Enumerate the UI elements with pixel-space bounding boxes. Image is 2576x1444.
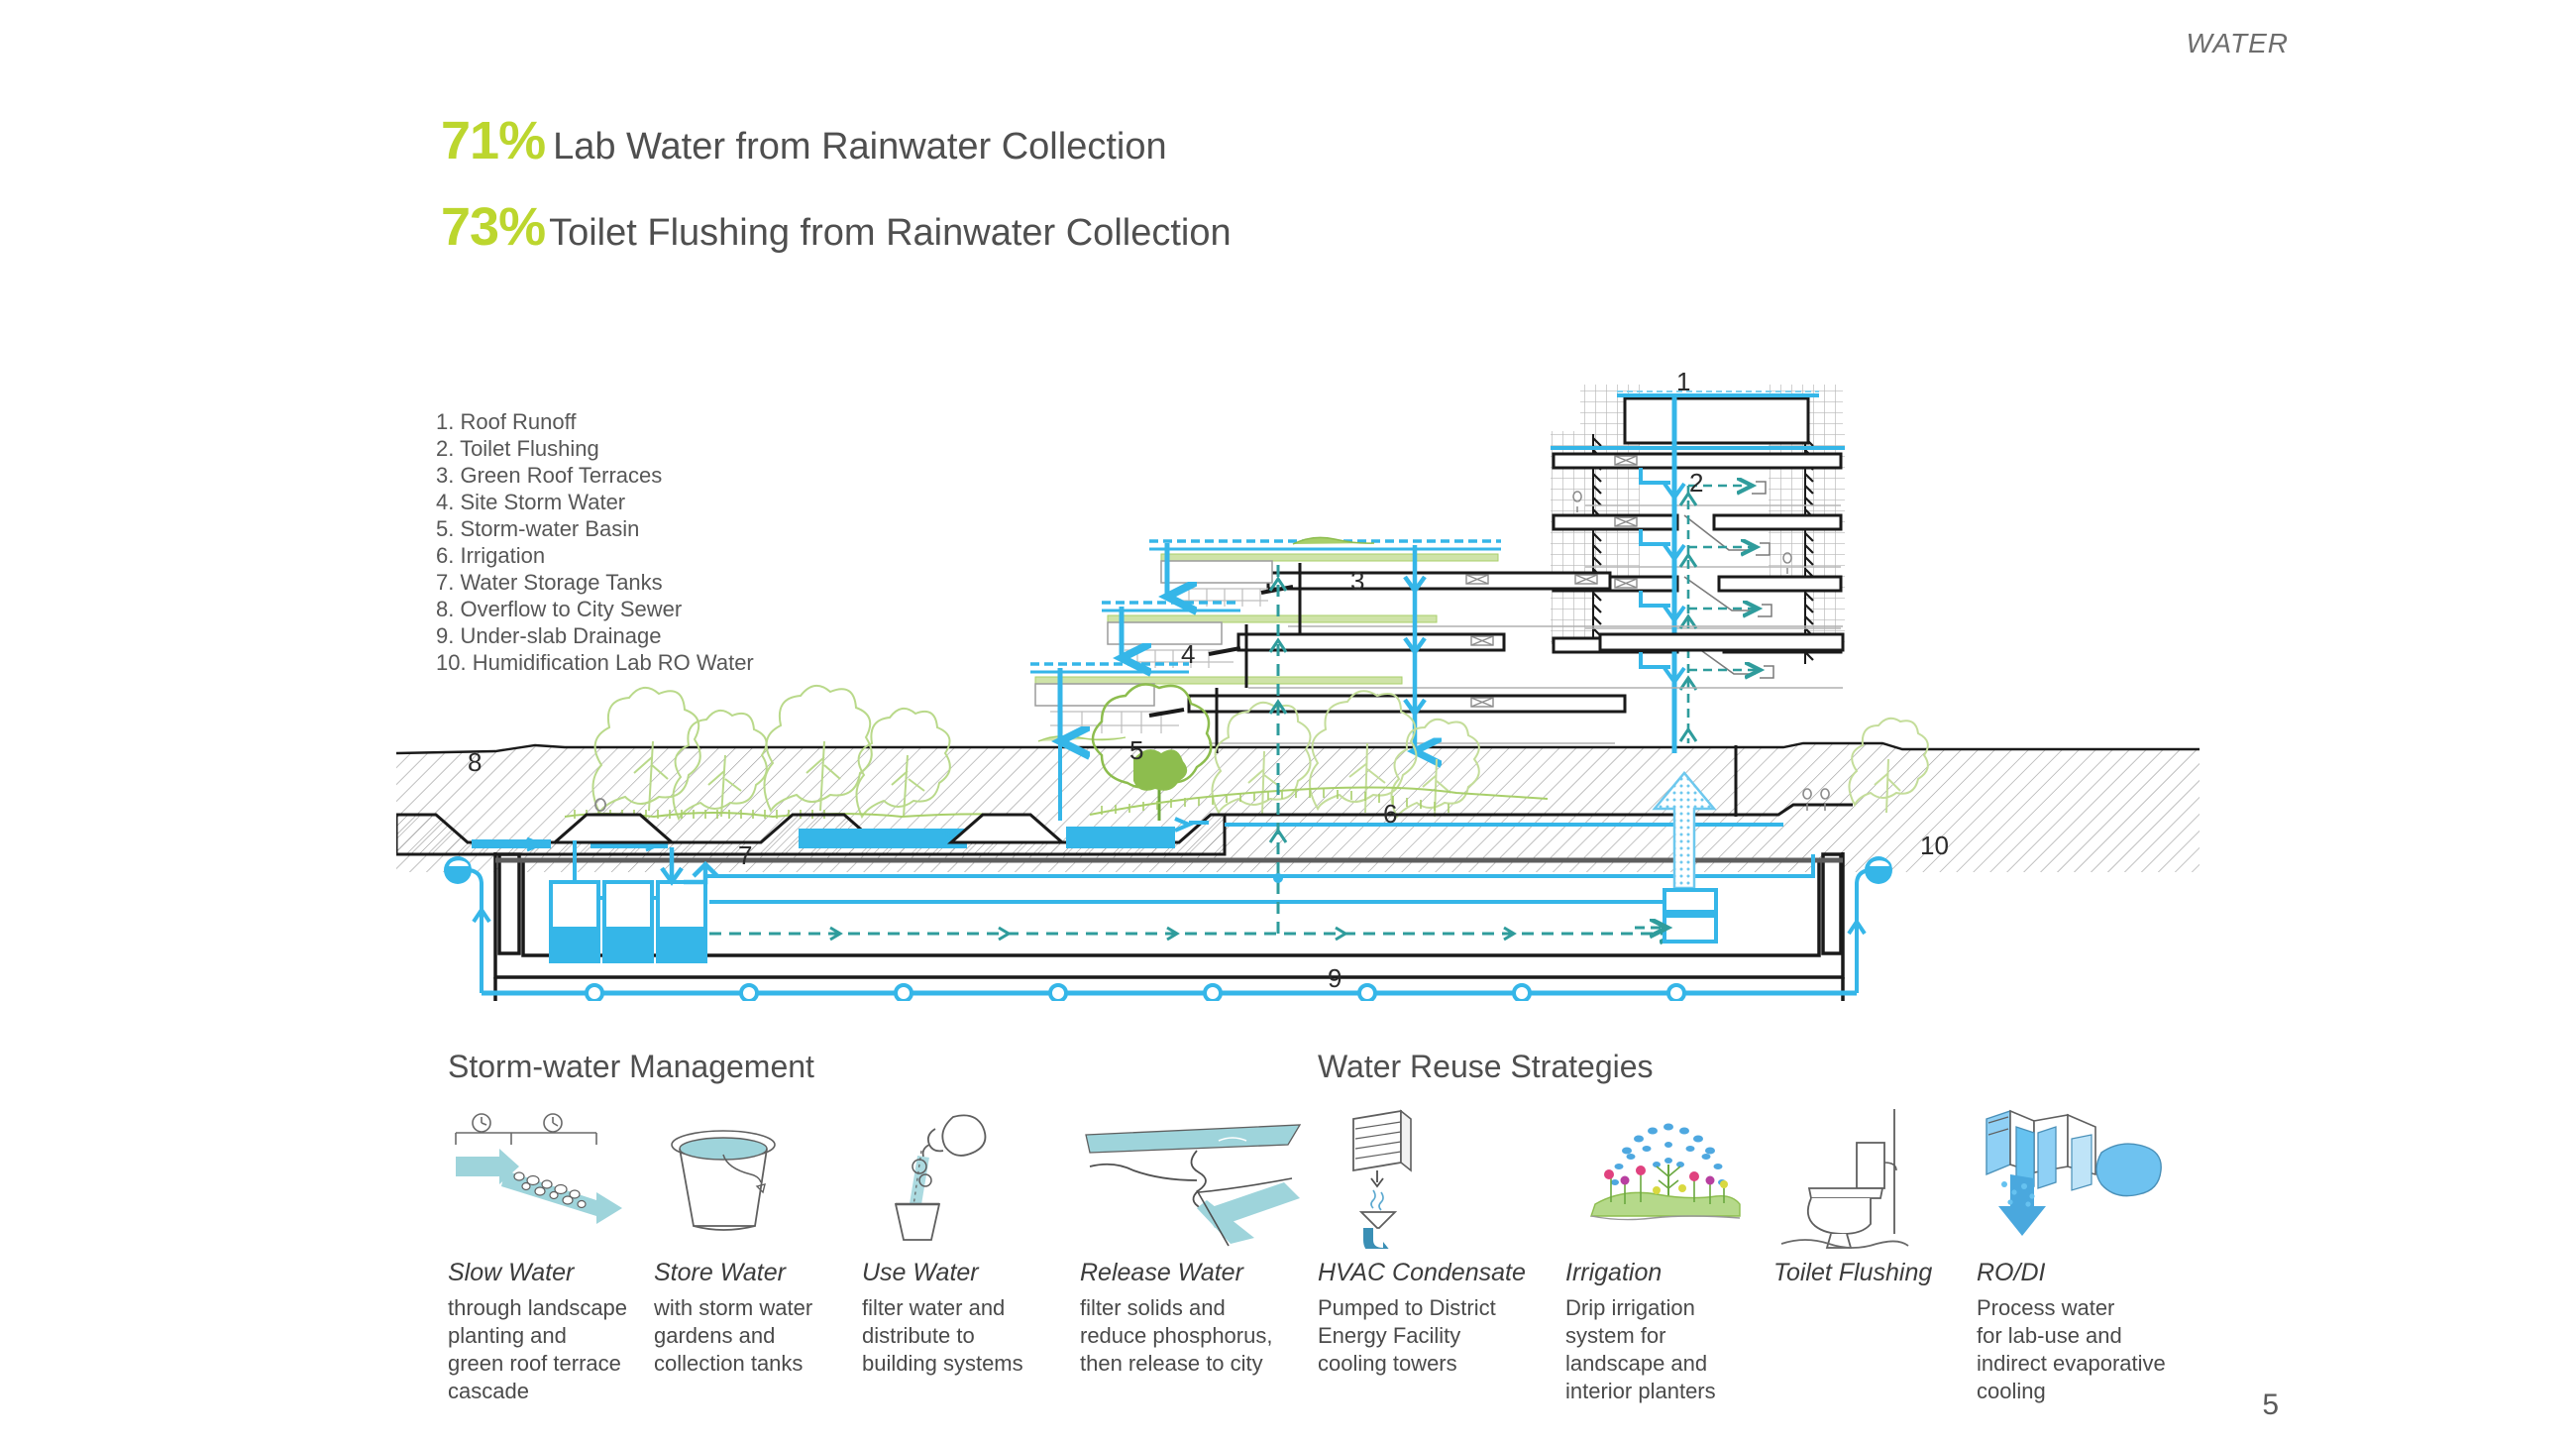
card-title: Use Water xyxy=(862,1259,1023,1287)
card-title: Slow Water xyxy=(448,1259,646,1287)
desc-line: indirect evaporative xyxy=(1977,1350,2175,1378)
desc-line: cascade xyxy=(448,1378,646,1405)
card-use-water: Use Water filter water and distribute to… xyxy=(862,1105,1023,1378)
card-description: through landscape planting and green roo… xyxy=(448,1294,646,1405)
desc-line: filter water and xyxy=(862,1294,1023,1322)
diagram-callout-6: 6 xyxy=(1383,799,1397,830)
stat-percent: 73% xyxy=(441,200,545,254)
card-title: Irrigation xyxy=(1565,1259,1764,1287)
diagram-callout-3: 3 xyxy=(1350,566,1364,597)
toilet-flushing-icon xyxy=(1773,1105,1962,1249)
stat-percent: 71% xyxy=(441,114,545,167)
desc-line: then release to city xyxy=(1080,1350,1308,1378)
irrigation-sprinkler-icon xyxy=(1565,1105,1764,1249)
card-ro-di: RO/DI Process water for lab-use and indi… xyxy=(1977,1105,2175,1405)
diagram-callout-4: 4 xyxy=(1181,639,1195,670)
card-description: with storm water gardens and collection … xyxy=(654,1294,812,1378)
desc-line: collection tanks xyxy=(654,1350,812,1378)
water-reuse-strategies-title: Water Reuse Strategies xyxy=(1318,1049,1654,1085)
card-title: HVAC Condensate xyxy=(1318,1259,1526,1287)
card-description: filter solids and reduce phosphorus, the… xyxy=(1080,1294,1308,1378)
card-title: RO/DI xyxy=(1977,1259,2175,1287)
card-description: filter water and distribute to building … xyxy=(862,1294,1023,1378)
desc-line: distribute to xyxy=(862,1322,1023,1350)
overflow-city-sewer-right xyxy=(1849,856,1892,993)
desc-line: landscape and xyxy=(1565,1350,1764,1378)
diagram-callout-10: 10 xyxy=(1920,831,1949,861)
card-toilet-flushing: Toilet Flushing xyxy=(1773,1105,1962,1294)
card-title: Toilet Flushing xyxy=(1773,1259,1962,1287)
diagram-callout-5: 5 xyxy=(1129,735,1143,766)
desc-line: Pumped to District xyxy=(1318,1294,1526,1322)
desc-line: green roof terrace xyxy=(448,1350,646,1378)
desc-line: interior planters xyxy=(1565,1378,1764,1405)
under-slab-drainage-line xyxy=(482,985,1857,1001)
desc-line: cooling towers xyxy=(1318,1350,1526,1378)
card-hvac-condensate: HVAC Condensate Pumped to District Energ… xyxy=(1318,1105,1526,1378)
storm-water-management-title: Storm-water Management xyxy=(448,1049,814,1085)
overflow-city-sewer-left xyxy=(444,856,489,993)
desc-line: Process water xyxy=(1977,1294,2175,1322)
desc-line: with storm water xyxy=(654,1294,812,1322)
card-description: Process water for lab-use and indirect e… xyxy=(1977,1294,2175,1405)
slow-water-icon xyxy=(448,1105,646,1249)
page-number: 5 xyxy=(2262,1388,2279,1422)
card-release-water: Release Water filter solids and reduce p… xyxy=(1080,1105,1308,1378)
card-irrigation: Irrigation Drip irrigation system for la… xyxy=(1565,1105,1764,1405)
desc-line: system for xyxy=(1565,1322,1764,1350)
desc-line: building systems xyxy=(862,1350,1023,1378)
card-title: Store Water xyxy=(654,1259,812,1287)
stat-label: Toilet Flushing from Rainwater Collectio… xyxy=(549,214,1232,252)
section-header-label: WATER xyxy=(2186,28,2289,59)
ro-di-icon xyxy=(1977,1105,2175,1249)
stat-label: Lab Water from Rainwater Collection xyxy=(553,128,1167,166)
desc-line: planting and xyxy=(448,1322,646,1350)
building-section-diagram xyxy=(396,347,2200,1001)
roof-penthouse xyxy=(1617,391,1819,443)
release-water-river-icon xyxy=(1080,1105,1308,1249)
store-water-bucket-icon xyxy=(654,1105,812,1249)
card-description: Pumped to District Energy Facility cooli… xyxy=(1318,1294,1526,1378)
diagram-callout-2: 2 xyxy=(1689,468,1703,499)
water-storage-tanks xyxy=(551,882,705,961)
desc-line: Energy Facility xyxy=(1318,1322,1526,1350)
desc-line: for lab-use and xyxy=(1977,1322,2175,1350)
desc-line: cooling xyxy=(1977,1378,2175,1405)
stat-row: 73% Toilet Flushing from Rainwater Colle… xyxy=(441,200,1232,254)
stat-row: 71% Lab Water from Rainwater Collection xyxy=(441,114,1232,167)
card-title: Release Water xyxy=(1080,1259,1308,1287)
diagram-callout-1: 1 xyxy=(1676,367,1690,397)
podium-floor-slabs xyxy=(1189,573,1843,712)
desc-line: Drip irrigation xyxy=(1565,1294,1764,1322)
desc-line: gardens and xyxy=(654,1322,812,1350)
stats-block: 71% Lab Water from Rainwater Collection … xyxy=(441,114,1232,286)
use-water-wateringcan-icon xyxy=(862,1105,1023,1249)
card-slow-water: Slow Water through landscape planting an… xyxy=(448,1105,646,1405)
hvac-condensate-icon xyxy=(1318,1105,1526,1249)
desc-line: reduce phosphorus, xyxy=(1080,1322,1308,1350)
card-store-water: Store Water with storm water gardens and… xyxy=(654,1105,812,1378)
diagram-callout-7: 7 xyxy=(738,840,752,871)
diagram-callout-9: 9 xyxy=(1328,963,1342,994)
desc-line: filter solids and xyxy=(1080,1294,1308,1322)
diagram-callout-8: 8 xyxy=(468,747,482,778)
card-description: Drip irrigation system for landscape and… xyxy=(1565,1294,1764,1405)
desc-line: through landscape xyxy=(448,1294,646,1322)
